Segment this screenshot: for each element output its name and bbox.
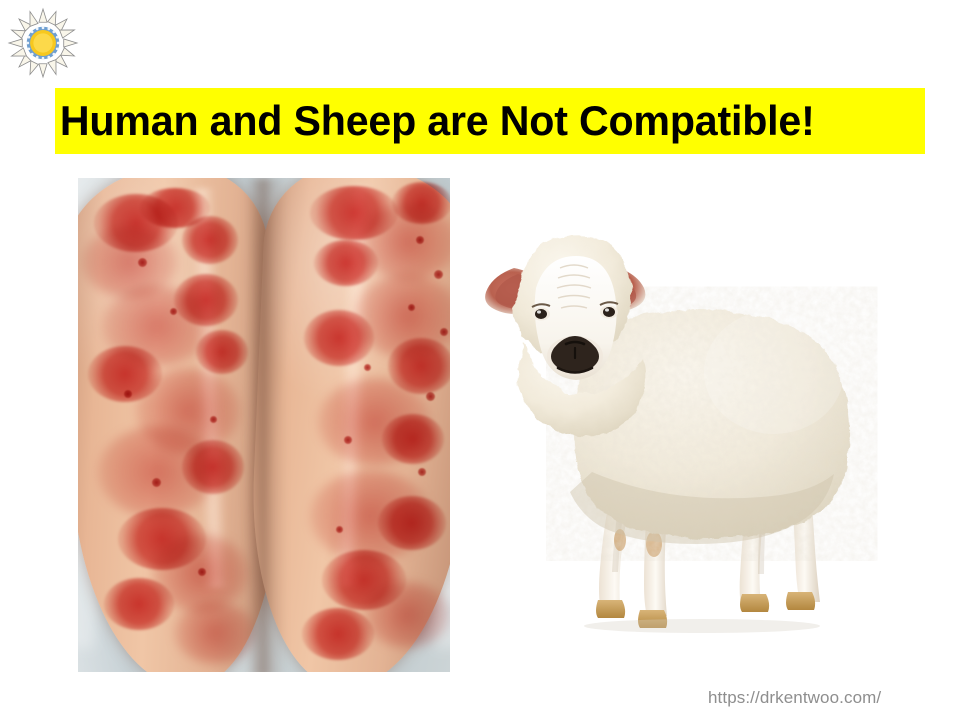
slide-canvas: Human and Sheep are Not Compatible! (0, 0, 960, 720)
rash-blotch (304, 310, 374, 366)
rash-blotch (392, 182, 450, 224)
rash-blotch (182, 216, 238, 264)
rash-blotch (302, 608, 374, 660)
sunflower-center-inner (33, 33, 52, 52)
between-legs-shadow (246, 178, 286, 672)
rash-blotch (364, 582, 450, 648)
rash-dot (152, 478, 161, 487)
rash-dot (440, 328, 448, 336)
page-title: Human and Sheep are Not Compatible! (55, 100, 815, 142)
rash-blotch (182, 440, 244, 494)
rash-blotch (104, 578, 174, 630)
rash-blotch (174, 274, 238, 326)
sheep-photo (462, 192, 882, 652)
rash-dot (418, 468, 426, 476)
rash-blotch (314, 240, 378, 286)
sunflower-logo (6, 6, 80, 80)
footer-url[interactable]: https://drkentwoo.com/ (708, 688, 924, 708)
rash-dot (336, 526, 343, 533)
rash-blotch (174, 602, 256, 664)
rash-dot (434, 270, 443, 279)
rash-dot (124, 390, 132, 398)
rash-blotch (382, 414, 444, 464)
rash-blotch (378, 496, 446, 550)
rash-dot (408, 304, 415, 311)
rash-dot (170, 308, 177, 315)
rash-dot (138, 258, 147, 267)
rash-dot (344, 436, 352, 444)
rash-dot (210, 416, 217, 423)
rash-dot (198, 568, 206, 576)
rash-blotch (196, 330, 248, 374)
rash-on-legs-photo (78, 178, 450, 672)
sheep-muzzle (547, 336, 603, 376)
rash-dot (364, 364, 371, 371)
title-banner: Human and Sheep are Not Compatible! (55, 88, 925, 154)
rash-dot (416, 236, 424, 244)
rash-dot (426, 392, 435, 401)
